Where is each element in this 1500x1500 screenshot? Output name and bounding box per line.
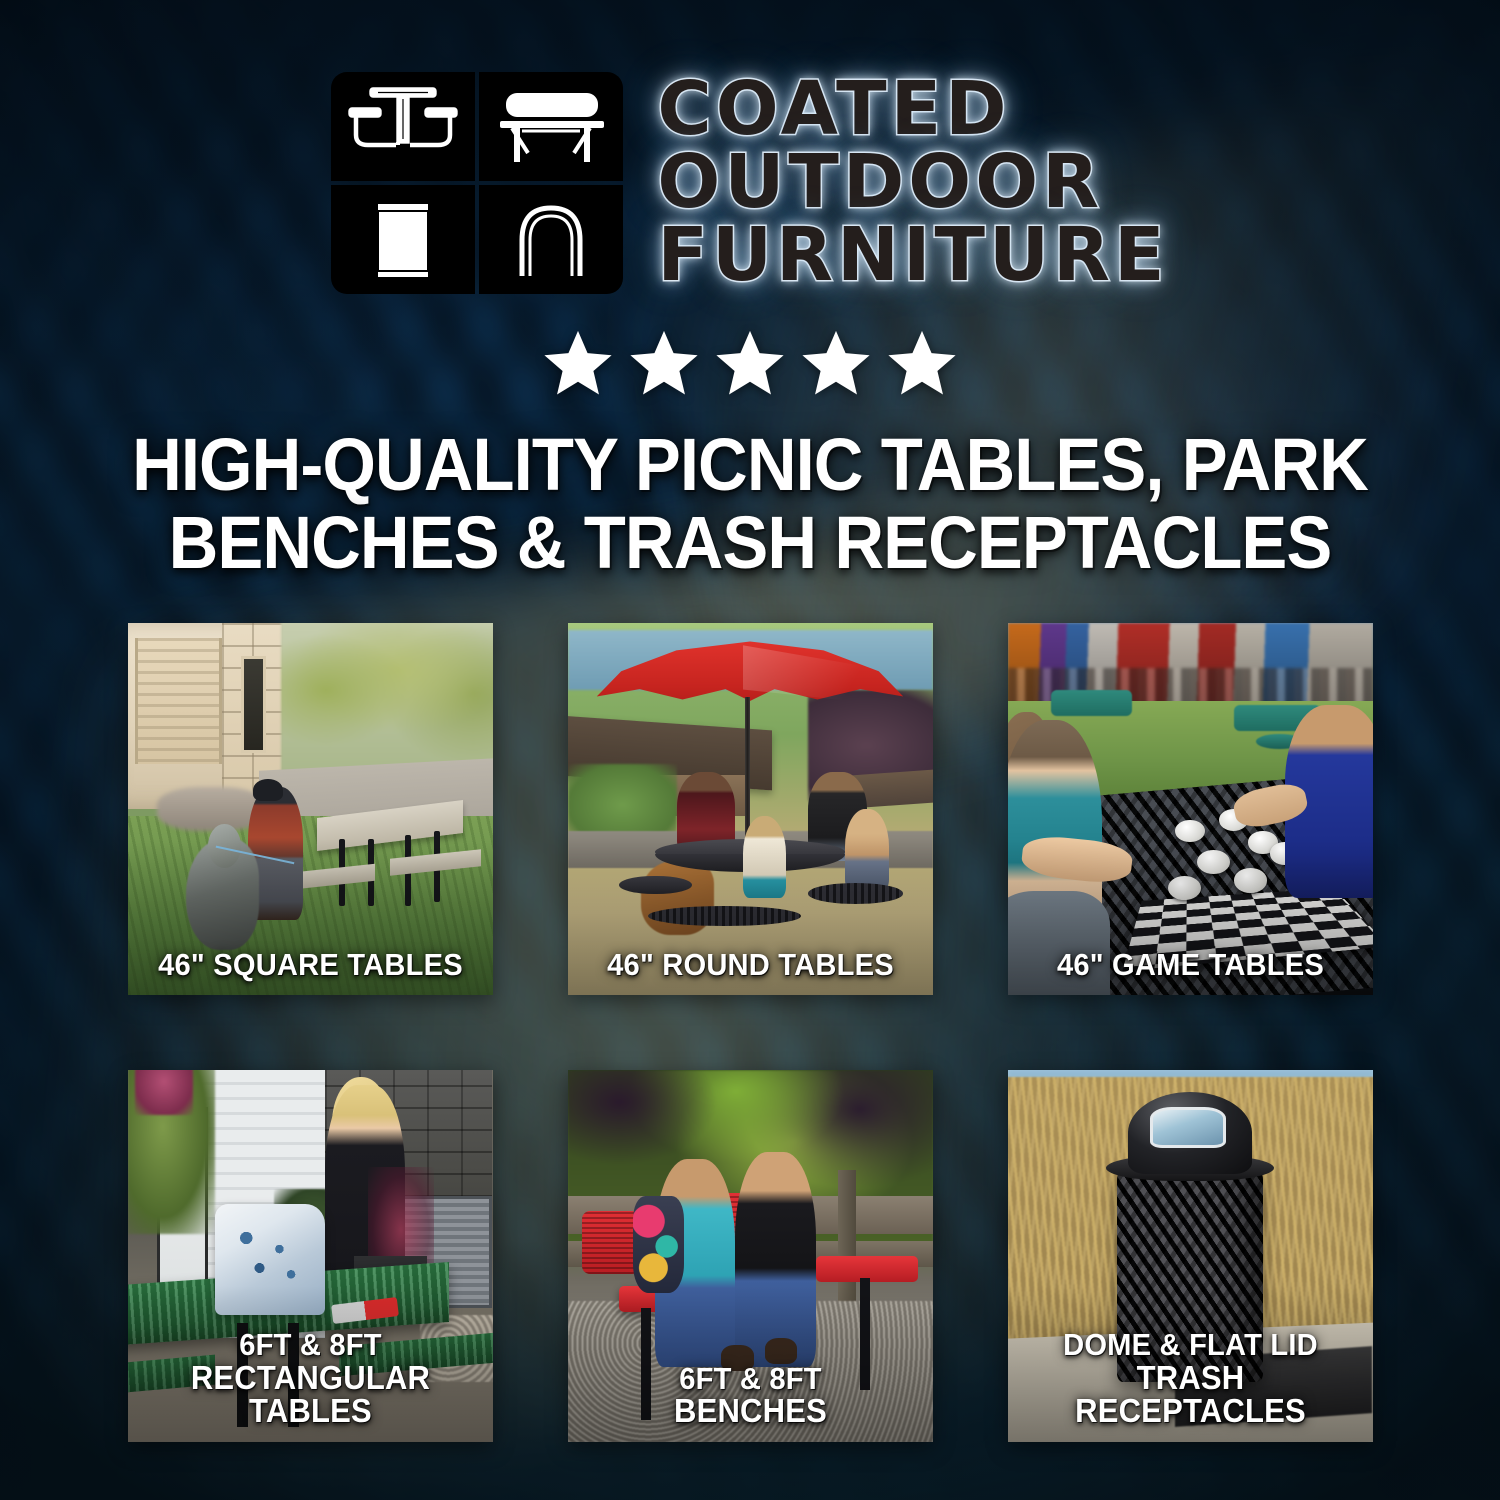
product-caption-benches: 6FT & 8FT BENCHES (578, 1363, 921, 1428)
caption-line-1: 46" SQUARE TABLES (146, 949, 474, 981)
caption-line-2: BENCHES (586, 1394, 914, 1428)
caption-line-1: 46" GAME TABLES (1026, 949, 1354, 981)
brand-wordmark: COATED OUTDOOR FURNITURE (657, 72, 1168, 291)
product-tile-rectangular-tables[interactable]: 6FT & 8FT RECTANGULAR TABLES (128, 1070, 493, 1442)
caption-line-2: TRASH RECEPTACLES (1026, 1361, 1354, 1428)
product-caption-square-tables: 46" SQUARE TABLES (138, 949, 481, 981)
product-caption-rectangular-tables: 6FT & 8FT RECTANGULAR TABLES (138, 1329, 481, 1428)
poster-content: COATED OUTDOOR FURNITURE HIGH-QUALITY PI… (0, 0, 1500, 1442)
brand-word-outdoor: OUTDOOR (657, 147, 1168, 218)
star-icon (884, 326, 960, 400)
brand-word-furniture: FURNITURE (657, 220, 1168, 291)
page-title: HIGH-QUALITY PICNIC TABLES, PARK BENCHES… (53, 426, 1448, 583)
logo-icon-grid (331, 72, 623, 294)
product-photo-square-tables (128, 623, 493, 995)
product-tile-trash-receptacles[interactable]: DOME & FLAT LID TRASH RECEPTACLES (1008, 1070, 1373, 1442)
caption-line-1: DOME & FLAT LID (1026, 1329, 1354, 1361)
product-caption-game-tables: 46" GAME TABLES (1018, 949, 1361, 981)
product-tile-round-tables[interactable]: 46" ROUND TABLES (568, 623, 933, 995)
product-caption-trash-receptacles: DOME & FLAT LID TRASH RECEPTACLES (1018, 1329, 1361, 1428)
headline-line-2: BENCHES & TRASH RECEPTACLES (108, 504, 1391, 582)
product-photo-game-tables (1008, 623, 1373, 995)
product-caption-round-tables: 46" ROUND TABLES (578, 949, 921, 981)
caption-line-1: 46" ROUND TABLES (586, 949, 914, 981)
product-grid: 46" SQUARE TABLES (128, 623, 1373, 1442)
product-tile-square-tables[interactable]: 46" SQUARE TABLES (128, 623, 493, 995)
product-photo-round-tables (568, 623, 933, 995)
star-icon (540, 326, 616, 400)
bike-rack-icon (479, 185, 623, 294)
star-icon (712, 326, 788, 400)
star-icon (798, 326, 874, 400)
promo-poster: COATED OUTDOOR FURNITURE HIGH-QUALITY PI… (0, 0, 1500, 1500)
trash-receptacle-icon (331, 185, 475, 294)
headline-line-1: HIGH-QUALITY PICNIC TABLES, PARK (108, 426, 1391, 504)
brand-word-coated: COATED (657, 74, 1168, 145)
product-tile-game-tables[interactable]: 46" GAME TABLES (1008, 623, 1373, 995)
star-icon (626, 326, 702, 400)
picnic-table-icon (331, 72, 475, 181)
brand-logo: COATED OUTDOOR FURNITURE (0, 0, 1500, 294)
bench-icon (479, 72, 623, 181)
caption-line-1: 6FT & 8FT (586, 1363, 914, 1395)
caption-line-2: RECTANGULAR TABLES (146, 1361, 474, 1428)
star-rating (0, 326, 1500, 400)
caption-line-1: 6FT & 8FT (146, 1329, 474, 1361)
product-tile-benches[interactable]: 6FT & 8FT BENCHES (568, 1070, 933, 1442)
